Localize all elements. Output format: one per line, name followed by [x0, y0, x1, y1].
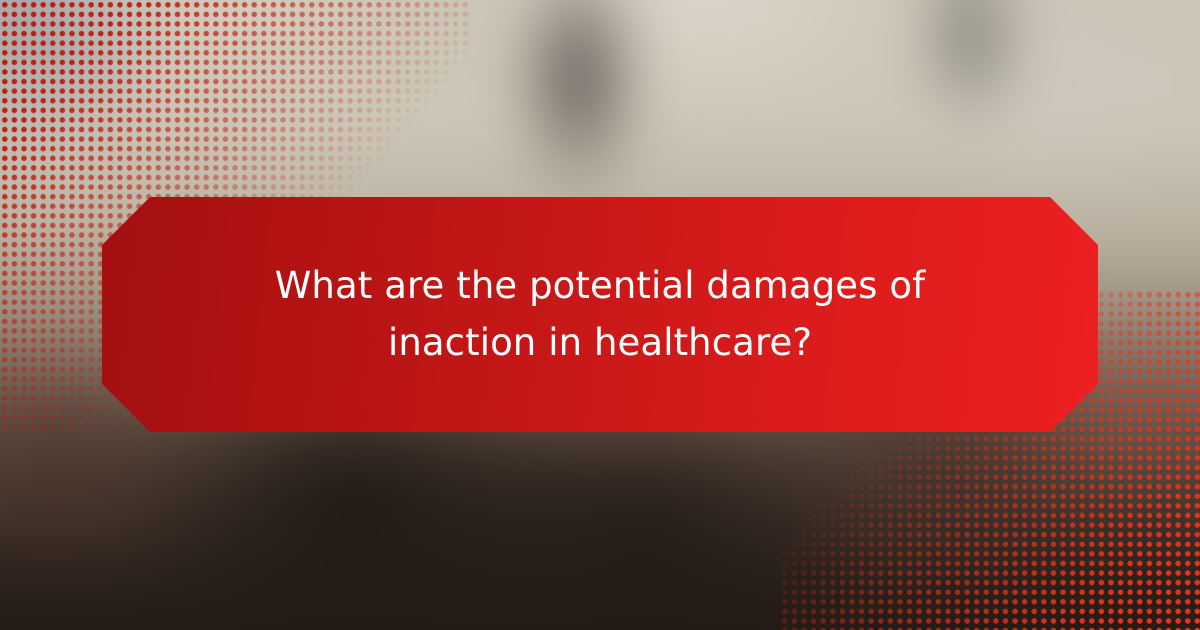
headline-banner: What are the potential damages of inacti… [102, 197, 1098, 432]
headline-text: What are the potential damages of inacti… [200, 258, 1000, 370]
poster-canvas: What are the potential damages of inacti… [0, 0, 1200, 630]
